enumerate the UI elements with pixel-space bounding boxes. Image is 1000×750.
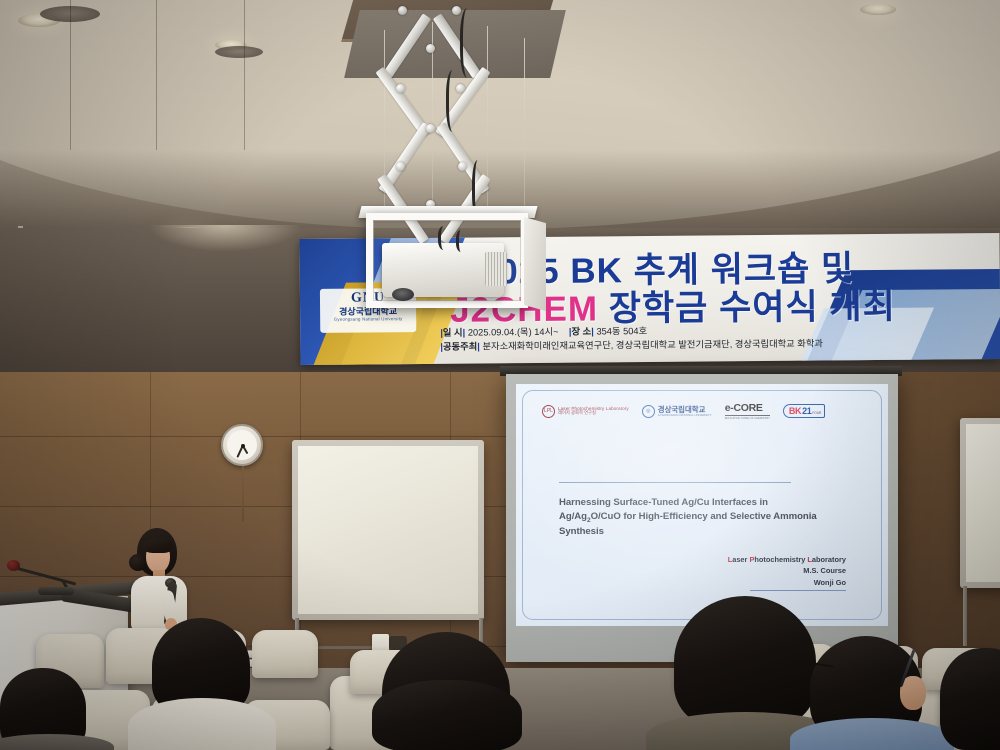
scissor-pivot bbox=[452, 6, 461, 15]
banner-place-label: 장 소 bbox=[571, 327, 591, 337]
slide-title-line-2a: Ag/Ag bbox=[559, 511, 587, 522]
affiliation-text-1: aser bbox=[732, 555, 749, 564]
slide-title-line-3: Synthesis bbox=[559, 526, 604, 537]
banner-date-value: 2025.09.04.(목) 14시~ bbox=[468, 327, 559, 338]
whiteboard-surface bbox=[298, 446, 478, 614]
lift-wire bbox=[524, 38, 525, 218]
banner-host-value: 분자소재화학미래인재교육연구단, 경상국립대학교 발전기금재단, 경상국립대학교… bbox=[482, 339, 823, 352]
gnu-logo-english: Gyeongsang National University bbox=[324, 317, 412, 322]
banner-date-label: 일 시 bbox=[443, 328, 463, 338]
audience-member-hair bbox=[372, 680, 522, 750]
projector-cage-door bbox=[524, 217, 546, 311]
bk21-logo-bk: BK bbox=[789, 406, 801, 416]
logo-laser-photochemistry-laboratory: LPL Laser Photochemistry Laboratory 레이저 … bbox=[542, 405, 629, 418]
slide-affiliation: Laser Photochemistry Laboratory bbox=[656, 554, 846, 565]
slide-logo-row: LPL Laser Photochemistry Laboratory 레이저 … bbox=[542, 403, 825, 420]
bk21-logo-21: 21 bbox=[802, 406, 811, 416]
seat[interactable] bbox=[252, 630, 318, 678]
projector-lens-icon bbox=[392, 288, 414, 301]
slide-title-line-1: Harnessing Surface-Tuned Ag/Cu Interface… bbox=[559, 497, 768, 508]
projector-cable bbox=[446, 70, 462, 132]
slide-title: Harnessing Surface-Tuned Ag/Cu Interface… bbox=[559, 496, 821, 538]
projector-cable bbox=[456, 230, 468, 252]
whiteboard-surface bbox=[966, 424, 1000, 582]
ceiling-light bbox=[860, 4, 896, 15]
lpl-seal-icon: LPL bbox=[542, 405, 555, 418]
banner-info-block: |일 시| 2025.09.04.(목) 14시~ |장 소| 354동 504… bbox=[440, 321, 980, 354]
wall-cable bbox=[242, 466, 244, 522]
gnu-slide-logo-en: GYEONGSANG NATIONAL UNIVERSITY bbox=[658, 414, 712, 417]
logo-gyeongsang-national-university: ◎ 경상국립대학교 GYEONGSANG NATIONAL UNIVERSITY bbox=[642, 405, 712, 418]
whiteboard-leg bbox=[963, 586, 967, 646]
clock-center-pin bbox=[241, 444, 245, 448]
ecore-logo-text: e-CORE bbox=[725, 403, 770, 416]
banner-host-label: 공동주최 bbox=[443, 342, 477, 352]
projector-cable bbox=[438, 226, 452, 250]
scissor-pivot bbox=[458, 162, 467, 171]
ecore-logo-subtext: EDUCATION CORE OF CHEMISTRY bbox=[725, 417, 770, 420]
wall-wash-light bbox=[150, 225, 300, 251]
presentation-slide: LPL Laser Photochemistry Laboratory 레이저 … bbox=[516, 384, 888, 626]
wall-clock bbox=[221, 424, 263, 466]
gnu-seal-icon: ◎ bbox=[642, 405, 655, 418]
banner-place-value: 354동 504호 bbox=[596, 326, 647, 336]
logo-e-core: e-CORE EDUCATION CORE OF CHEMISTRY bbox=[725, 403, 770, 420]
bk21-logo-sub: FOUR bbox=[812, 411, 821, 415]
presenter-hair-bun bbox=[129, 554, 147, 571]
wall-seam bbox=[156, 0, 157, 150]
affiliation-text-3: aboratory bbox=[812, 555, 846, 564]
wall-seam bbox=[70, 0, 71, 150]
scissor-pivot bbox=[396, 162, 405, 171]
lecture-hall-photo: GNU 경상국립대학교 Gyeongsang National Universi… bbox=[0, 0, 1000, 750]
scissor-pivot bbox=[396, 84, 405, 93]
slide-divider-bottom bbox=[750, 590, 846, 591]
microphone-icon bbox=[7, 560, 20, 571]
scissor-pivot bbox=[398, 6, 407, 15]
wall-seam bbox=[244, 0, 245, 150]
projector-vent bbox=[485, 252, 507, 286]
audience-member-head bbox=[674, 596, 816, 728]
microphone-base bbox=[38, 587, 74, 595]
audience-member-shoulders bbox=[128, 698, 276, 750]
logo-bk21: BK 21 FOUR bbox=[783, 404, 825, 418]
slide-presenter-name: Wonji Go bbox=[656, 577, 846, 588]
ceiling-vent bbox=[215, 46, 263, 58]
slide-title-line-2c: O/CuO for High-Efficiency and Selective … bbox=[591, 511, 817, 522]
projector-cable bbox=[460, 8, 478, 78]
scissor-pivot bbox=[426, 44, 435, 53]
affiliation-text-2: hotochemistry bbox=[754, 555, 807, 564]
presenter-bangs bbox=[144, 538, 172, 553]
lpl-logo-text-kr: 레이저 광화학 연구실 bbox=[558, 411, 629, 416]
slide-divider-top bbox=[559, 482, 791, 483]
slide-course: M.S. Course bbox=[656, 565, 846, 576]
scissor-pivot bbox=[426, 124, 435, 133]
slide-author-block: Laser Photochemistry Laboratory M.S. Cou… bbox=[656, 554, 846, 588]
